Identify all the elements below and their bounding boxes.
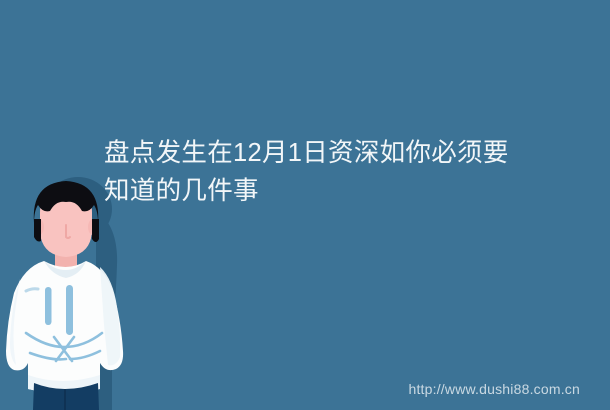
source-watermark: http://www.dushi88.com.cn: [408, 381, 580, 397]
page-title: 盘点发生在12月1日资深如你必须要知道的几件事: [104, 134, 534, 210]
article-cover-banner: 盘点发生在12月1日资深如你必须要知道的几件事 http://www.dushi…: [0, 0, 610, 410]
hoodie-person-illustration: [0, 175, 160, 410]
